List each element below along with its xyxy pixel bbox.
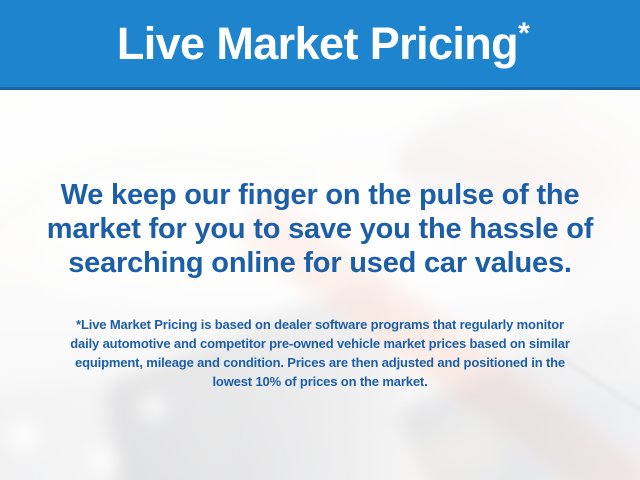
page-title: Live Market Pricing* xyxy=(111,21,529,66)
header-banner: Live Market Pricing* xyxy=(0,0,640,90)
disclaimer-text: *Live Market Pricing is based on dealer … xyxy=(30,315,610,391)
headline-text: We keep our finger on the pulse of the m… xyxy=(20,178,620,280)
headline-line-2: market for you to save you the hassle of xyxy=(20,212,620,246)
live-market-pricing-promo-card: Live Market Pricing* We keep our finger … xyxy=(0,0,640,480)
disclaimer-line-1: *Live Market Pricing is based on dealer … xyxy=(30,315,610,334)
disclaimer-line-3: equipment, mileage and condition. Prices… xyxy=(30,353,610,372)
content-area: We keep our finger on the pulse of the m… xyxy=(0,93,640,480)
page-title-asterisk: * xyxy=(518,17,529,50)
disclaimer-line-2: daily automotive and competitor pre-owne… xyxy=(30,334,610,353)
page-title-text: Live Market Pricing xyxy=(117,18,518,69)
headline-line-3: searching online for used car values. xyxy=(20,246,620,280)
headline-line-1: We keep our finger on the pulse of the xyxy=(20,178,620,212)
disclaimer-line-4: lowest 10% of prices on the market. xyxy=(30,372,610,391)
